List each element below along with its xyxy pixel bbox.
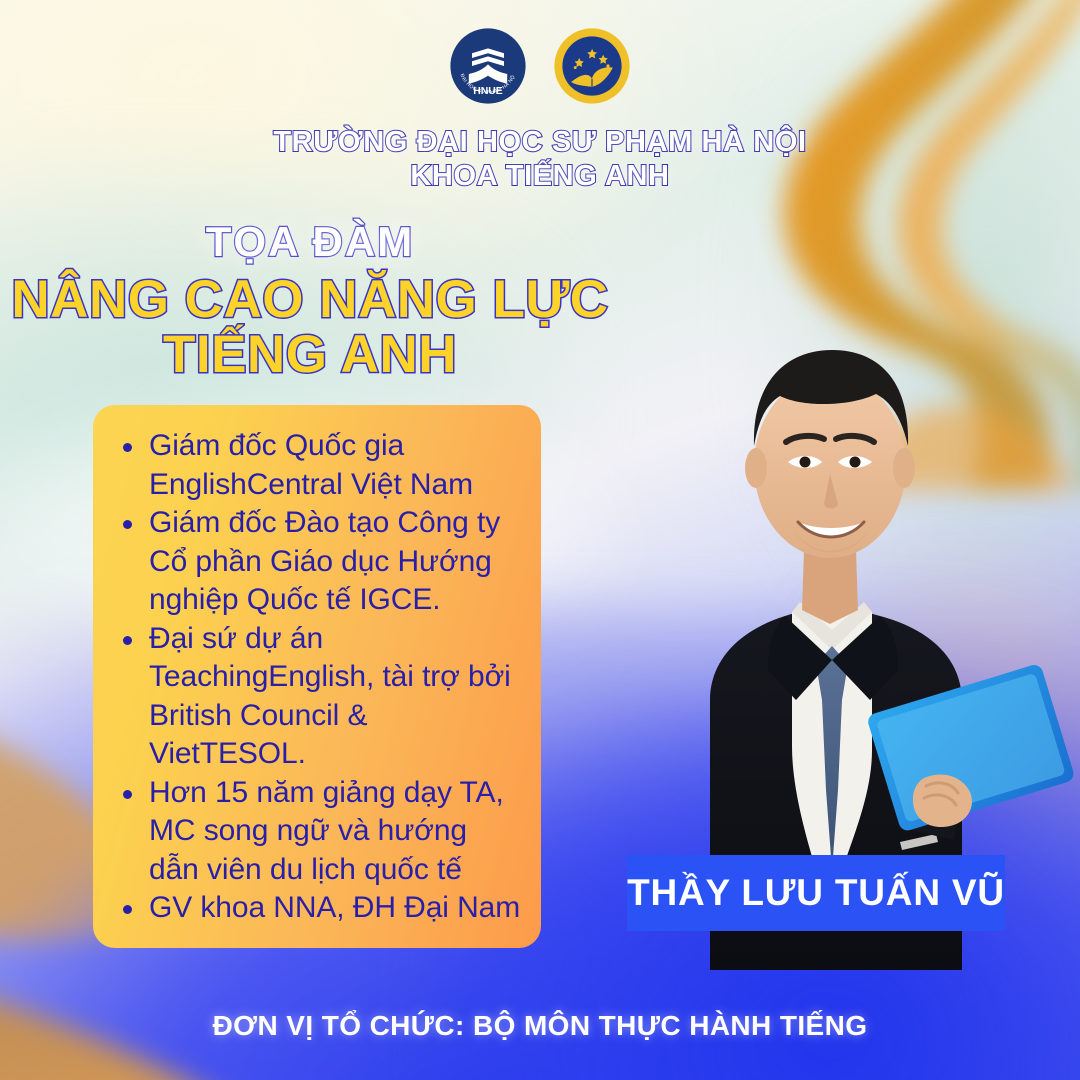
logo-row: HNUE ĐẠI HỌC SƯ PHẠM HÀ NỘI FACULTY OF E… (0, 26, 1080, 106)
header-line-university: TRƯỜNG ĐẠI HỌC SƯ PHẠM HÀ NỘI (0, 125, 1080, 159)
title-main-line2: TIẾNG ANH (0, 327, 620, 382)
credentials-list: Giám đốc Quốc gia EnglishCentral Việt Na… (105, 427, 523, 928)
faculty-of-english-logo: FACULTY OF ENGLISH SINCE 2004 (552, 26, 632, 106)
list-item: Giám đốc Đào tạo Công ty Cổ phần Giáo dụ… (105, 504, 523, 620)
header-block: TRƯỜNG ĐẠI HỌC SƯ PHẠM HÀ NỘI KHOA TIẾNG… (0, 125, 1080, 193)
title-main-line1: NÂNG CAO NĂNG LỰC (0, 272, 620, 327)
credentials-card: Giám đốc Quốc gia EnglishCentral Việt Na… (93, 405, 541, 948)
title-eyebrow: TỌA ĐÀM (0, 218, 620, 266)
list-item: Đại sứ dự án TeachingEnglish, tài trợ bở… (105, 620, 523, 774)
title-block: TỌA ĐÀM NÂNG CAO NĂNG LỰC TIẾNG ANH (0, 218, 620, 382)
list-item: Hơn 15 năm giảng dạy TA, MC song ngữ và … (105, 774, 523, 890)
footer-block: ĐƠN VỊ TỔ CHỨC: BỘ MÔN THỰC HÀNH TIẾNG (0, 1010, 1080, 1042)
speaker-name-banner: THẦY LƯU TUẤN VŨ (627, 855, 1005, 931)
speaker-name: THẦY LƯU TUẤN VŨ (627, 873, 1005, 913)
header-line-faculty: KHOA TIẾNG ANH (0, 159, 1080, 193)
list-item: Giám đốc Quốc gia EnglishCentral Việt Na… (105, 427, 523, 504)
hnue-logo: HNUE ĐẠI HỌC SƯ PHẠM HÀ NỘI (448, 26, 528, 106)
footer-organizer: ĐƠN VỊ TỔ CHỨC: BỘ MÔN THỰC HÀNH TIẾNG (0, 1010, 1080, 1042)
poster-root: HNUE ĐẠI HỌC SƯ PHẠM HÀ NỘI FACULTY OF E… (0, 0, 1080, 1080)
list-item: GV khoa NNA, ĐH Đại Nam (105, 889, 523, 928)
